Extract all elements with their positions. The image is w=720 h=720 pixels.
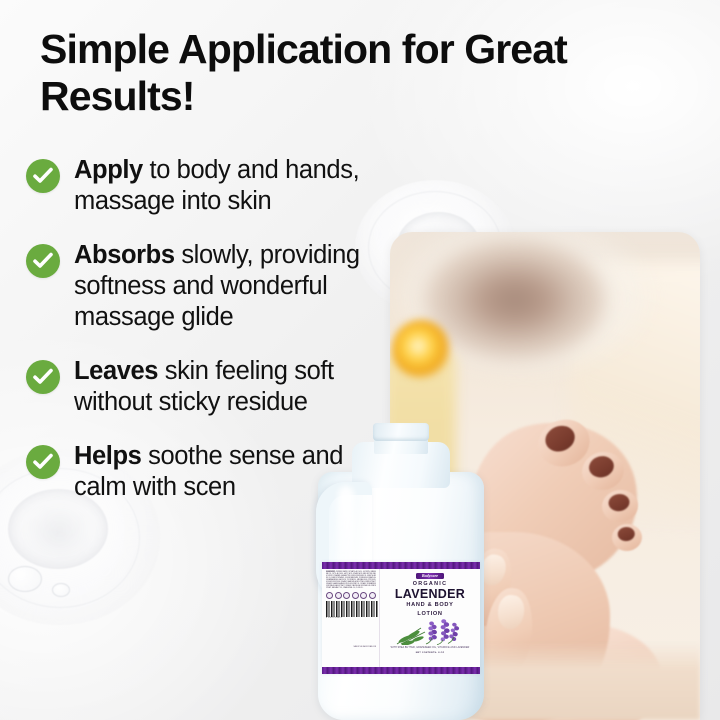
check-icon	[26, 360, 60, 394]
label-net-contents: NET CONTENTS: 8 OZ	[416, 652, 445, 654]
ingredients-text: INGREDIENTS: PURIFIED WATER, CETEARYL AL…	[326, 572, 376, 590]
brand-name: Bodycare	[422, 574, 438, 578]
ingredients-list: PURIFIED WATER, CETEARYL ALCOHOL, GLYCER…	[326, 572, 376, 589]
list-item-text: Apply to body and hands, massage into sk…	[74, 155, 386, 218]
list-item-text: Helps soothe sense and calm with scen	[74, 441, 386, 504]
check-icon	[26, 159, 60, 193]
list-item-text: Leaves skin feeling soft without sticky …	[74, 356, 386, 419]
list-item-lead: Helps	[74, 442, 141, 470]
made-in-usa-icon	[369, 592, 376, 599]
check-icon	[26, 445, 60, 479]
recycle-icon	[326, 592, 333, 599]
organic-seal-icon	[360, 592, 367, 599]
vegan-icon	[343, 592, 350, 599]
barcode-number: 8 97478 52380 7	[326, 618, 376, 619]
brand-plate: Bodycare	[416, 573, 444, 579]
label-product-line1: HAND & BODY	[406, 602, 453, 610]
label-ingredients-panel: INGREDIENTS: PURIFIED WATER, CETEARYL AL…	[322, 569, 380, 667]
label-subtext: WITH SHEA BUTTER, GRAPESEED OIL, VITAMIN…	[391, 647, 470, 651]
list-item-text: Absorbs slowly, providing softness and w…	[74, 240, 386, 334]
list-item: Leaves skin feeling soft without sticky …	[26, 356, 386, 419]
label-url: MADE IN THE USA BODYCARE.COM	[354, 647, 376, 649]
label-front-panel: Bodycare ORGANIC LAVENDER HAND & BODY LO…	[380, 569, 480, 667]
ingredients-heading: INGREDIENTS:	[326, 572, 336, 573]
list-item-lead: Leaves	[74, 357, 158, 385]
label-border-bottom	[322, 667, 480, 674]
photo-rolled-towel	[425, 240, 605, 360]
check-icon	[26, 244, 60, 278]
list-item-lead: Apply	[74, 156, 143, 184]
label-product-name: LAVENDER	[395, 588, 465, 601]
label-border-top	[322, 562, 480, 569]
cruelty-free-icon	[335, 592, 342, 599]
lavender-sprig-illustration	[391, 619, 469, 645]
product-label: INGREDIENTS: PURIFIED WATER, CETEARYL AL…	[322, 562, 480, 674]
list-item: Helps soothe sense and calm with scen	[26, 441, 386, 504]
photo-candle-flame	[392, 320, 450, 378]
page-title: Simple Application for Great Results!	[40, 26, 580, 119]
list-item-lead: Absorbs	[74, 241, 175, 269]
benefits-list: Apply to body and hands, massage into sk…	[26, 155, 386, 525]
list-item: Apply to body and hands, massage into sk…	[26, 155, 386, 218]
barcode	[326, 601, 378, 617]
label-product-line2: LOTION	[417, 611, 442, 619]
list-item: Absorbs slowly, providing softness and w…	[26, 240, 386, 334]
paraben-free-icon	[352, 592, 359, 599]
label-care-icons	[326, 592, 376, 599]
